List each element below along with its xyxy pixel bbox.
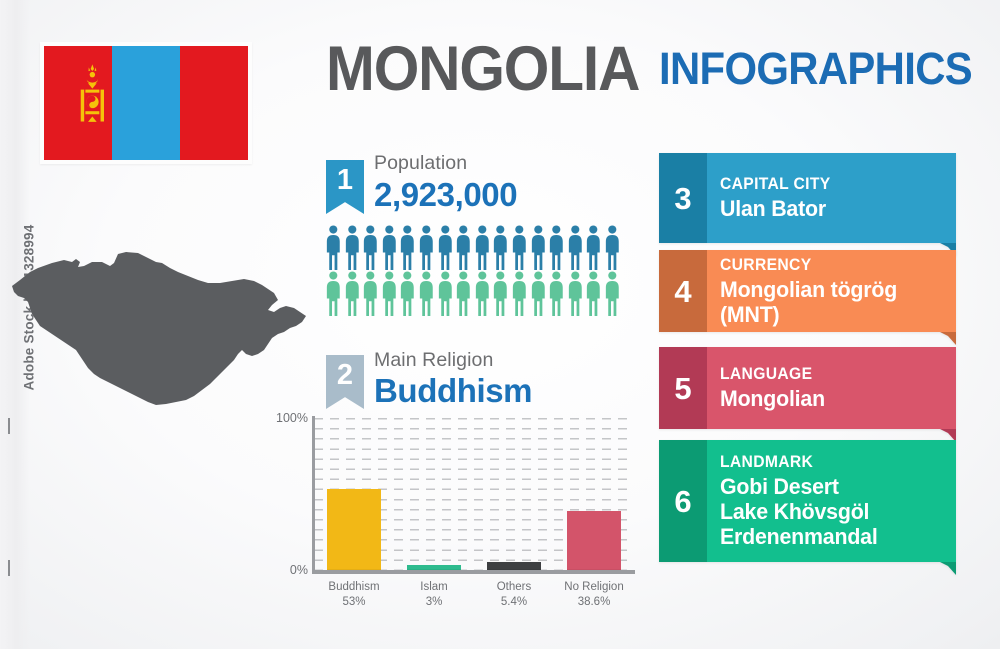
chart-bar [567, 511, 621, 570]
fact-card-3[interactable]: 3CAPITAL CITYUlan Bator [659, 153, 956, 243]
chart-bar-label: Others5.4% [474, 580, 554, 609]
person-icon [436, 224, 455, 270]
chart-bar-category: No Religion [564, 581, 623, 593]
person-icon [343, 224, 362, 270]
person-icon [529, 270, 548, 316]
fact-card-value-line: Mongolian tögrög (MNT) [720, 277, 939, 327]
mongolia-flag [40, 42, 252, 164]
fact-card-number: 4 [659, 250, 707, 332]
person-icon [491, 270, 510, 316]
fact-card-number: 5 [659, 347, 707, 429]
person-icon [473, 270, 492, 316]
pictogram-row-bottom [324, 270, 622, 316]
fact-card-title: LANGUAGE [720, 365, 935, 384]
chart-bars [314, 418, 634, 570]
watermark-tick-bottom [8, 560, 10, 576]
person-icon [454, 270, 473, 316]
religion-value: Buddhism [374, 372, 532, 410]
person-icon [603, 270, 622, 316]
person-icon [584, 270, 603, 316]
population-label: Population [374, 152, 467, 175]
chart-category-labels: Buddhism53%Islam3%Others5.4%No Religion3… [314, 580, 634, 609]
mongolia-map-shape [6, 250, 324, 415]
chart-bar-value: 53% [342, 596, 365, 608]
person-icon [324, 270, 343, 316]
pictogram-row-top [324, 224, 622, 270]
person-icon [343, 270, 362, 316]
chart-bar [327, 489, 381, 570]
fact-card-number: 6 [659, 440, 707, 562]
chart-bar-label: Islam3% [394, 580, 474, 609]
fact-card-body: LANGUAGEMongolian [707, 347, 956, 429]
person-icon [398, 270, 417, 316]
person-icon [510, 270, 529, 316]
fact-card-6[interactable]: 6LANDMARKGobi DesertLake KhövsgölErdenen… [659, 440, 956, 562]
person-icon [566, 270, 585, 316]
person-icon [361, 270, 380, 316]
fact-card-value-line: Erdenenmandal [720, 524, 939, 549]
person-icon [417, 270, 436, 316]
fact-card-value: Mongolian tögrög (MNT) [720, 277, 939, 327]
person-icon [529, 224, 548, 270]
person-icon [324, 224, 343, 270]
chart-bar-category: Buddhism [328, 581, 379, 593]
chart-bar-slot [474, 418, 554, 570]
stat-badge-1: 1 [326, 160, 364, 214]
fact-card-body: CAPITAL CITYUlan Bator [707, 153, 956, 243]
flag-band-blue [112, 46, 180, 160]
chart-bar-label: Buddhism53% [314, 580, 394, 609]
page-subtitle: INFOGRAPHICS [659, 46, 972, 91]
person-icon [380, 270, 399, 316]
infographic-canvas: Adobe Stock | #81328994 [0, 0, 1000, 649]
fact-card-number: 3 [659, 153, 707, 243]
chart-bar-slot [314, 418, 394, 570]
chart-bar-value: 3% [426, 596, 443, 608]
fact-card-body: LANDMARKGobi DesertLake KhövsgölErdenenm… [707, 440, 956, 562]
soyombo-emblem [74, 63, 111, 143]
y-axis-tick-max: 100% [276, 411, 308, 425]
person-icon [547, 224, 566, 270]
person-icon [566, 224, 585, 270]
person-icon [454, 224, 473, 270]
chart-bar-category: Islam [420, 581, 447, 593]
chart-bar-label: No Religion38.6% [554, 580, 634, 609]
fact-card-value-line: Ulan Bator [720, 196, 939, 221]
chart-x-axis [312, 570, 635, 574]
watermark-tick-top [8, 418, 10, 434]
fact-card-value: Ulan Bator [720, 196, 939, 221]
fact-card-title: LANDMARK [720, 453, 935, 472]
fact-card-title: CURRENCY [720, 256, 935, 275]
person-icon [436, 270, 455, 316]
religion-label: Main Religion [374, 349, 493, 372]
person-icon [603, 224, 622, 270]
fact-card-title: CAPITAL CITY [720, 175, 935, 194]
fact-card-body: CURRENCYMongolian tögrög (MNT) [707, 250, 956, 332]
fact-card-value-line: Mongolian [720, 386, 939, 411]
mongolia-map [6, 250, 324, 415]
page-title: MONGOLIA [326, 38, 639, 101]
chart-bar-value: 38.6% [578, 596, 611, 608]
fact-card-value: Mongolian [720, 386, 939, 411]
person-icon [417, 224, 436, 270]
chart-bar-slot [394, 418, 474, 570]
chart-bar [407, 565, 461, 570]
chart-bar [487, 562, 541, 570]
stat-badge-2: 2 [326, 355, 364, 409]
person-icon [510, 224, 529, 270]
population-value: 2,923,000 [374, 176, 517, 214]
chart-bar-value: 5.4% [501, 596, 527, 608]
fact-card-value-line: Lake Khövsgöl [720, 499, 939, 524]
person-icon [584, 224, 603, 270]
religion-bar-chart: 100% 0% Buddhism53%Islam3%Others5.4%No R… [282, 412, 638, 612]
fact-card-5[interactable]: 5LANGUAGEMongolian [659, 347, 956, 429]
person-icon [361, 224, 380, 270]
flag-band-red-right [180, 46, 248, 160]
person-icon [398, 224, 417, 270]
fact-card-ribbon-tail [940, 562, 956, 575]
fact-card-4[interactable]: 4CURRENCYMongolian tögrög (MNT) [659, 250, 956, 332]
person-icon [380, 224, 399, 270]
fact-card-value: Gobi DesertLake KhövsgölErdenenmandal [720, 474, 939, 549]
fact-card-ribbon-tail [940, 332, 956, 345]
person-icon [491, 224, 510, 270]
chart-bar-category: Others [497, 581, 532, 593]
y-axis-tick-min: 0% [290, 563, 308, 577]
person-icon [547, 270, 566, 316]
person-icon [473, 224, 492, 270]
population-pictogram [324, 224, 622, 320]
fact-card-value-line: Gobi Desert [720, 474, 939, 499]
chart-bar-slot [554, 418, 634, 570]
